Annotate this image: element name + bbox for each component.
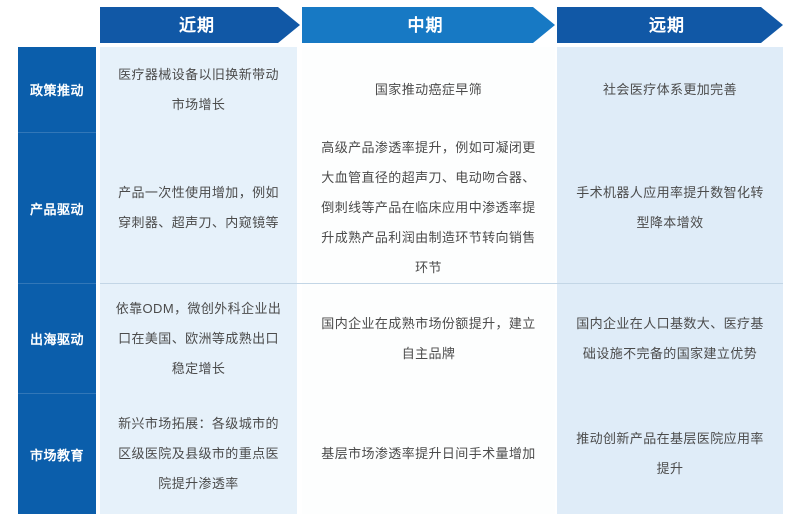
cell-text: 依靠ODM，微创外科企业出口在美国、欧洲等成熟出口稳定增长 xyxy=(114,294,283,384)
cell-text: 推动创新产品在基层医院应用率提升 xyxy=(571,424,769,484)
column-header-label: 近期 xyxy=(179,17,215,34)
table-cell: 手术机器人应用率提升数智化转型降本增效 xyxy=(557,132,783,283)
cell-text: 社会医疗体系更加完善 xyxy=(603,75,737,105)
table-cell: 新兴市场拓展：各级城市的区级医院及县级市的重点医院提升渗透率 xyxy=(100,393,297,514)
cell-text: 国内企业在人口基数大、医疗基础设施不完备的国家建立优势 xyxy=(571,309,769,369)
column-header-mid-term[interactable]: 中期 xyxy=(302,7,555,43)
column-header-label: 远期 xyxy=(649,17,685,34)
strategy-matrix: 近期 中期 远期 政策推动 产品驱动 出海驱动 市场教育 医疗器械设备以旧换新带… xyxy=(0,0,800,530)
cell-text: 国家推动癌症早筛 xyxy=(375,75,482,105)
column-header-label: 中期 xyxy=(408,17,444,34)
table-cell: 依靠ODM，微创外科企业出口在美国、欧洲等成熟出口稳定增长 xyxy=(100,284,297,393)
row-label-product[interactable]: 产品驱动 xyxy=(18,132,96,283)
row-label-rail: 政策推动 产品驱动 出海驱动 市场教育 xyxy=(18,47,96,514)
column-header-long-term[interactable]: 远期 xyxy=(557,7,783,43)
cell-text: 产品一次性使用增加，例如穿刺器、超声刀、内窥镜等 xyxy=(114,178,283,238)
table-cell: 推动创新产品在基层医院应用率提升 xyxy=(557,393,783,514)
cell-text: 国内企业在成熟市场份额提升，建立自主品牌 xyxy=(316,309,541,369)
table-cell: 国内企业在人口基数大、医疗基础设施不完备的国家建立优势 xyxy=(557,284,783,393)
cell-text: 高级产品渗透率提升，例如可凝闭更大血管直径的超声刀、电动吻合器、倒刺线等产品在临… xyxy=(316,133,541,283)
row-label-market-education[interactable]: 市场教育 xyxy=(18,393,96,514)
table-cell: 高级产品渗透率提升，例如可凝闭更大血管直径的超声刀、电动吻合器、倒刺线等产品在临… xyxy=(302,132,555,283)
table-cell: 国内企业在成熟市场份额提升，建立自主品牌 xyxy=(302,284,555,393)
column-header-near-term[interactable]: 近期 xyxy=(100,7,300,43)
table-cell: 基层市场渗透率提升日间手术量增加 xyxy=(302,393,555,514)
cell-text: 新兴市场拓展：各级城市的区级医院及县级市的重点医院提升渗透率 xyxy=(114,409,283,499)
cell-text: 基层市场渗透率提升日间手术量增加 xyxy=(321,439,535,469)
cell-text: 医疗器械设备以旧换新带动市场增长 xyxy=(114,60,283,120)
table-cell: 社会医疗体系更加完善 xyxy=(557,47,783,132)
table-cell: 国家推动癌症早筛 xyxy=(302,47,555,132)
row-label-policy[interactable]: 政策推动 xyxy=(18,47,96,132)
table-cell: 产品一次性使用增加，例如穿刺器、超声刀、内窥镜等 xyxy=(100,132,297,283)
row-label-overseas[interactable]: 出海驱动 xyxy=(18,283,96,393)
table-cell: 医疗器械设备以旧换新带动市场增长 xyxy=(100,47,297,132)
cell-text: 手术机器人应用率提升数智化转型降本增效 xyxy=(571,178,769,238)
